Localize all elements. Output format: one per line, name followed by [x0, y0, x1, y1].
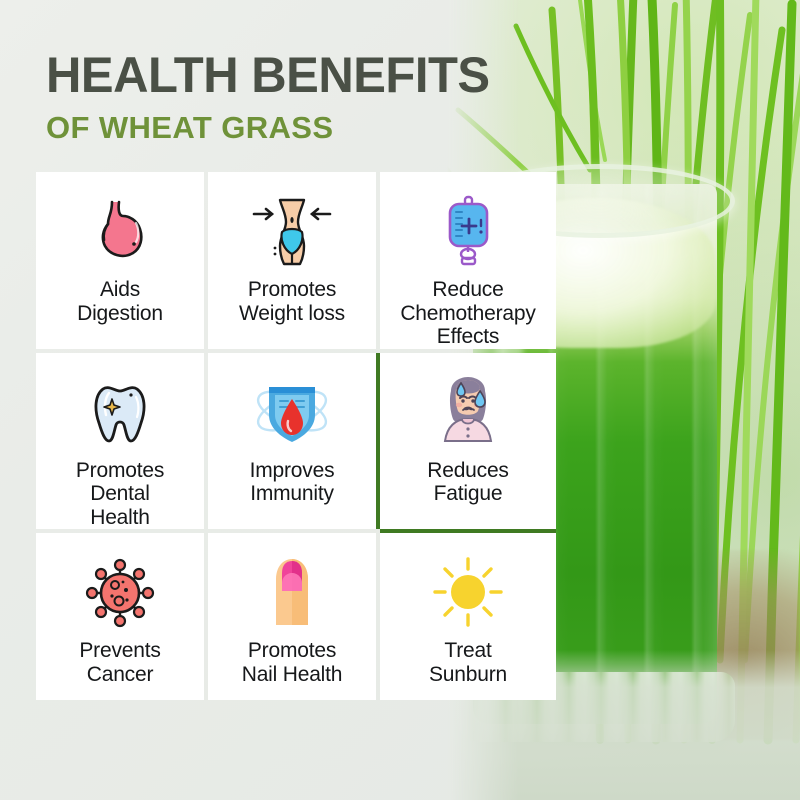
tooth-icon — [81, 369, 159, 455]
stomach-icon — [81, 188, 159, 274]
benefit-label: Reduce Chemotherapy Effects — [380, 278, 556, 349]
benefit-label: Treat Sunburn — [384, 639, 552, 686]
fingernail-icon — [260, 549, 324, 635]
benefit-card-treat-sunburn[interactable]: Treat Sunburn — [380, 533, 556, 700]
slim-waist-icon — [244, 188, 340, 274]
tired-woman-icon — [429, 369, 507, 455]
benefit-card-promotes-nail-health[interactable]: Promotes Nail Health — [208, 533, 376, 700]
benefit-card-prevents-cancer[interactable]: Prevents Cancer — [36, 533, 204, 700]
benefit-label: Promotes Weight loss — [208, 278, 376, 325]
page-subtitle: OF WHEAT GRASS — [46, 112, 516, 143]
benefit-label: Promotes Dental Health — [36, 459, 204, 530]
sun-icon — [429, 549, 507, 635]
benefit-card-promotes-dental-health[interactable]: Promotes Dental Health — [36, 353, 204, 530]
benefits-grid: Aids Digestion Promotes Weight loss — [36, 172, 512, 700]
benefit-card-reduces-fatigue[interactable]: Reduces Fatigue — [380, 353, 556, 530]
iv-drip-bag-icon — [429, 188, 507, 274]
page-title: HEALTH BENEFITS — [46, 50, 507, 100]
benefit-card-aids-digestion[interactable]: Aids Digestion — [36, 172, 204, 349]
benefit-card-promotes-weight-loss[interactable]: Promotes Weight loss — [208, 172, 376, 349]
benefit-label: Reduces Fatigue — [384, 459, 552, 506]
benefit-label: Improves Immunity — [208, 459, 376, 506]
benefit-card-improves-immunity[interactable]: Improves Immunity — [208, 353, 376, 530]
benefit-label: Aids Digestion — [36, 278, 204, 325]
shield-blood-drop-icon — [251, 369, 333, 455]
benefit-card-reduce-chemotherapy-effects[interactable]: Reduce Chemotherapy Effects — [380, 172, 556, 349]
benefit-label: Promotes Nail Health — [208, 639, 376, 686]
cancer-cell-icon — [79, 549, 161, 635]
infographic-poster: HEALTH BENEFITS OF WHEAT GRASS Aids Dige… — [0, 0, 800, 800]
title-block: HEALTH BENEFITS OF WHEAT GRASS — [46, 50, 516, 143]
benefit-label: Prevents Cancer — [36, 639, 204, 686]
